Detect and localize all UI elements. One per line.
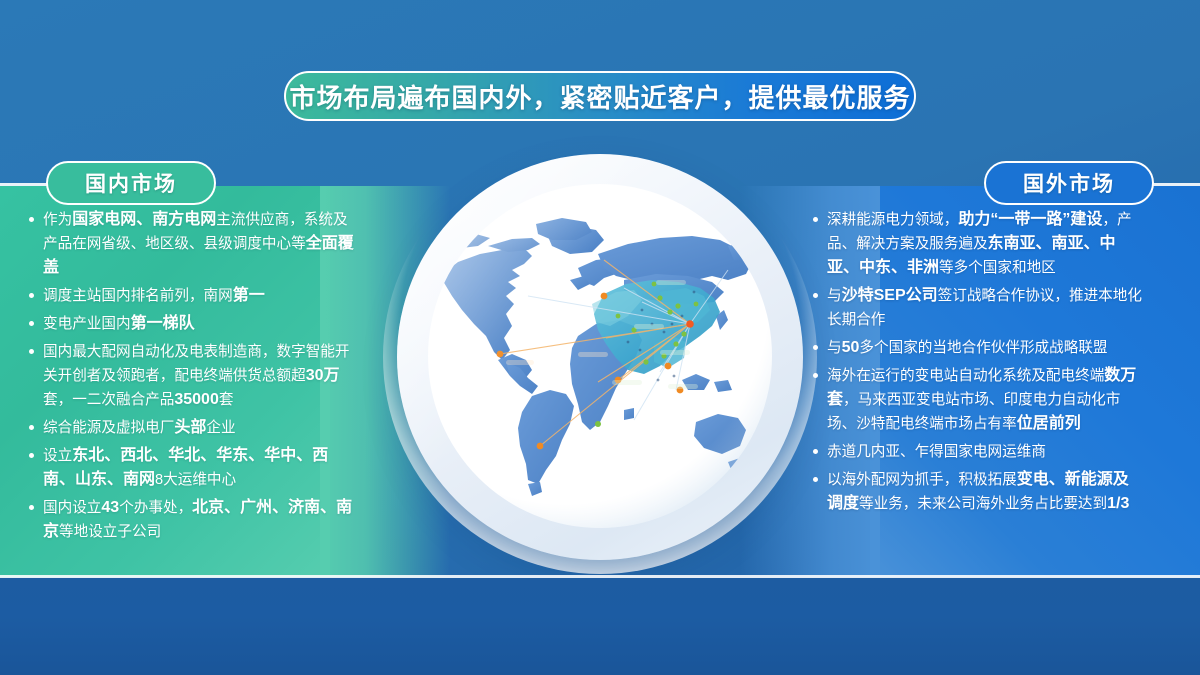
bottom-band	[0, 578, 1200, 675]
slide-title-pill: 市场布局遍布国内外，紧密贴近客户，提供最优服务	[284, 71, 916, 121]
slide-title-text: 市场布局遍布国内外，紧密贴近客户，提供最优服务	[289, 78, 910, 115]
slide-root: 市场布局遍布国内外，紧密贴近客户，提供最优服务 国内市场 国外市场 作为国家电网…	[0, 0, 1200, 675]
list-item: 赤道几内亚、乍得国家电网运维商	[812, 440, 1142, 464]
list-item: 国内最大配网自动化及电表制造商，数字智能开关开创者及领跑者，配电终端供货总额超3…	[28, 340, 358, 412]
list-item: 深耕能源电力领域，助力“一带一路”建设，产品、解决方案及服务遍及东南亚、南亚、中…	[812, 208, 1142, 280]
list-item: 变电产业国内第一梯队	[28, 312, 358, 336]
domestic-market-badge-label: 国内市场	[85, 168, 177, 198]
list-item: 与沙特SEP公司签订战略合作协议，推进本地化长期合作	[812, 284, 1142, 332]
domestic-market-list: 作为国家电网、南方电网主流供应商，系统及产品在网省级、地区级、县级调度中心等全面…	[28, 208, 358, 548]
list-item: 作为国家电网、南方电网主流供应商，系统及产品在网省级、地区级、县级调度中心等全面…	[28, 208, 358, 280]
world-map-icon	[428, 184, 772, 528]
list-item: 调度主站国内排名前列，南网第一	[28, 284, 358, 308]
list-item: 国内设立43个办事处，北京、广州、济南、南京等地设立子公司	[28, 496, 358, 544]
list-item: 海外在运行的变电站自动化系统及配电终端数万套，马来西亚变电站市场、印度电力自动化…	[812, 364, 1142, 436]
domestic-market-badge: 国内市场	[46, 161, 216, 205]
list-item: 设立东北、西北、华北、华东、华中、西南、山东、南网8大运维中心	[28, 444, 358, 492]
overseas-market-badge-label: 国外市场	[1023, 168, 1115, 198]
list-item: 以海外配网为抓手，积极拓展变电、新能源及调度等业务，未来公司海外业务占比要达到1…	[812, 468, 1142, 516]
overseas-market-badge: 国外市场	[984, 161, 1154, 205]
globe-disc	[428, 184, 772, 528]
overseas-market-list: 深耕能源电力领域，助力“一带一路”建设，产品、解决方案及服务遍及东南亚、南亚、中…	[812, 208, 1142, 520]
list-item: 与50多个国家的当地合作伙伴形成战略联盟	[812, 336, 1142, 360]
world-globe	[383, 140, 817, 574]
list-item: 综合能源及虚拟电厂头部企业	[28, 416, 358, 440]
